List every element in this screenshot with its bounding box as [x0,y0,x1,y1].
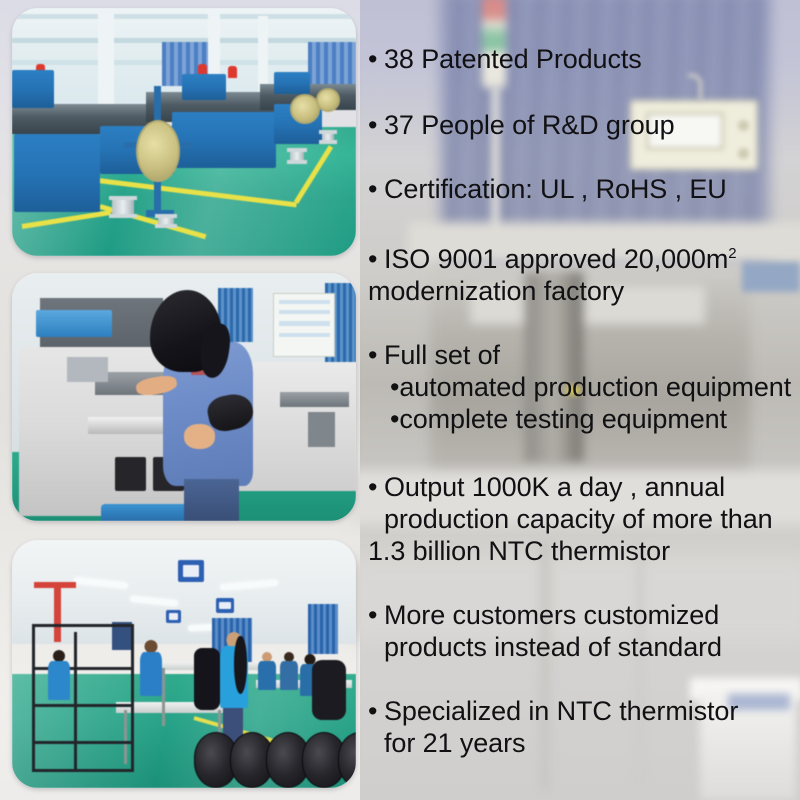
photo1-wire-spool [322,130,334,144]
photo2-blue-crate [36,310,112,337]
bullet-list: •38 Patented Products •37 People of R&D … [360,0,800,800]
bullet-line: production capacity of more than [368,504,800,536]
bullet-line: 1.3 billion NTC thermistor [368,536,800,568]
bullet-text: 37 People of R&D group [384,110,675,140]
bullet-line: •37 People of R&D group [368,110,800,142]
bullet-item-patented-products: •38 Patented Products [368,44,800,76]
sub-bullet-complete-testing: •complete testing equipment [368,404,800,436]
bullet-item-customized-products: •More customers customized products inst… [368,600,800,664]
photo2-worker-hand [184,424,215,449]
photo1-wire-spool [158,214,174,228]
photo3-worker-uniform [48,661,70,700]
photo1-machine-body [172,112,276,168]
photo2-notice-board [273,293,335,357]
bullet-item-full-set: •Full set of •automated production equip… [368,340,800,436]
photo1-ceiling-beam [12,14,356,19]
photo3-worker-uniform [258,661,276,690]
bullet-item-specialized-years: •Specialized in NTC thermistor for 21 ye… [368,696,800,760]
photo1-machine-cabinet [274,72,310,94]
bullet-marker: • [368,110,384,142]
bullet-line: •38 Patented Products [368,44,800,76]
photo1-machine-cabinet [182,74,226,100]
bullet-line: •Specialized in NTC thermistor [368,696,800,728]
photo1-wire-spool [290,148,304,164]
photo1-wire-spool [112,196,134,218]
photo2-machine-part [308,412,336,447]
bullet-item-iso-9001: •ISO 9001 approved 20,000m2 modernizatio… [368,244,800,308]
bullet-line: for 21 years [368,728,800,760]
bullet-line: •More customers customized [368,600,800,632]
bullet-marker: • [368,244,384,276]
photo3-safety-sign [216,598,234,613]
bullet-marker: • [368,600,384,632]
photo3-rack-upright [74,632,77,772]
bullet-line: •Output 1000K a day , annual [368,472,800,504]
photo1-alarm-lamp [228,66,237,78]
photo3-worker [258,652,276,690]
photo3-worker [140,640,162,696]
bullet-line: •ISO 9001 approved 20,000m2 [368,244,800,276]
bullet-item-certification: •Certification: UL , RoHS , EU [368,174,800,206]
photo-automated-production-line [12,8,356,256]
bullet-line: •Certification: UL , RoHS , EU [368,174,800,206]
bullet-text: Output 1000K a day , annual [384,472,725,502]
photo3-coil-reels [202,730,356,788]
sub-bullet-automated-production: •automated production equipment [368,372,800,404]
bullet-line: •Full set of [368,340,800,372]
photo1-machine-body [14,134,100,212]
bullet-text: Full set of [384,340,500,370]
slide-canvas: •38 Patented Products •37 People of R&D … [0,0,800,800]
photo2-black-module [115,457,146,492]
bullet-marker: • [368,472,384,504]
photo3-worker-hair [234,636,247,694]
photo-assembly-hall [12,540,356,788]
photo-worker-operating-machine [12,273,356,521]
bullet-text: More customers customized [384,600,719,630]
bullet-text: Specialized in NTC thermistor [384,696,738,726]
photo3-safety-sign [178,560,204,582]
bullet-marker: • [368,44,384,76]
bullet-text: ISO 9001 approved 20,000m [384,244,728,274]
photo3-worker [48,650,70,700]
bullet-marker: • [368,174,384,206]
bullet-line: products instead of standard [368,632,800,664]
bullet-item-output-capacity: •Output 1000K a day , annual production … [368,472,800,568]
photo3-red-pipe [34,582,76,588]
photo3-worker [280,652,298,690]
bullet-text: Certification: UL , RoHS , EU [384,174,727,204]
photo3-black-coil-bundle [194,648,220,710]
photo3-black-coil-bundle [312,660,346,720]
photo3-bench-leg [162,668,165,726]
bullet-marker: • [368,696,384,728]
photo1-large-tape-reel [136,120,180,182]
bullet-item-rd-group: •37 People of R&D group [368,110,800,142]
photo2-worker-legs [184,479,239,521]
bullet-line: modernization factory [368,276,800,308]
photo3-safety-sign [166,610,181,623]
photo3-worker-uniform [280,661,298,690]
photo3-worker-uniform [140,652,162,696]
square-meter-superscript: 2 [728,245,736,262]
photo3-blue-curtain [308,604,338,654]
photo1-tape-reel [316,88,340,112]
photo2-machine-part [67,357,108,382]
photo2-machine-rail [280,392,349,407]
bullet-text: 38 Patented Products [384,44,642,74]
photo1-machine-cabinet [12,70,54,108]
bullet-marker: • [368,340,384,372]
